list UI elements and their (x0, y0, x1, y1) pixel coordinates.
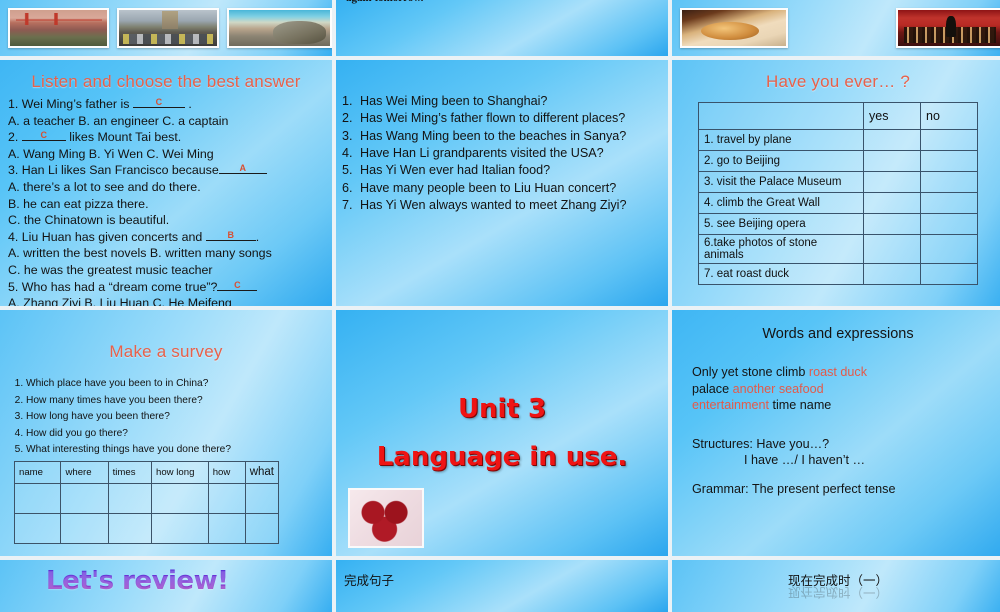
golden-gate-bridge-photo (8, 8, 109, 48)
slide-thumbnail-lets-review[interactable]: Let's review! (0, 560, 332, 612)
bottom-slide-body: 完成句子 (336, 560, 668, 612)
words-body: Only yet stone climb roast duck palace a… (672, 342, 1000, 498)
question-list: Has Wei Ming been to Shanghai? Has Wei M… (336, 60, 668, 214)
slide-grid: again tomorrow. Listen and choose the be… (0, 0, 1000, 600)
options-4c: C. he was the greatest music teacher (8, 262, 326, 279)
list-item: Have Han Li grandparents visited the USA… (356, 146, 658, 161)
list-item: Which place have you been to in China? (26, 376, 326, 392)
concert-orchestra-photo (896, 8, 1000, 48)
list-item: Has Wang Ming been to the beaches in San… (356, 129, 658, 144)
list-item: How did you go there? (26, 426, 326, 442)
structures-second-line: I have …/ I haven’t … (692, 452, 990, 469)
listen-choose-body: 1. Wei Ming’s father is C . A. a teacher… (0, 96, 332, 306)
list-item: Have many people been to Liu Huan concer… (356, 181, 658, 196)
have-you-ever-table: yes no 1. travel by plane 2. go to Beiji… (698, 102, 978, 285)
red-roses-photo (348, 488, 424, 548)
unit-subtitle: Language in use. (377, 442, 628, 472)
col-name: name (15, 461, 61, 483)
word-line-3: entertainment time name (692, 397, 990, 414)
options-3b: B. he can eat pizza there. (8, 196, 326, 213)
list-item: Has Yi Wen always wanted to meet Zhang Z… (356, 198, 658, 213)
cell-yes[interactable] (864, 151, 921, 172)
lets-review-title: Let's review! (46, 566, 228, 596)
table-row (15, 483, 279, 513)
slide-thumbnail-photos-top-left[interactable] (0, 0, 332, 56)
answer-blank-3: A (219, 173, 267, 174)
table-row: name where times how long how what (15, 461, 279, 483)
slide-thumbnail-words-and-expressions[interactable]: Words and expressions Only yet stone cli… (672, 310, 1000, 556)
cell[interactable] (61, 483, 108, 513)
cell[interactable] (108, 483, 151, 513)
slide-thumbnail-listen-and-choose[interactable]: Listen and choose the best answer 1. Wei… (0, 60, 332, 306)
table-row: 1. travel by plane (699, 130, 978, 151)
cell-no[interactable] (921, 130, 978, 151)
answer-blank-1: C (133, 107, 185, 108)
cell-yes[interactable] (864, 214, 921, 235)
cell[interactable] (208, 483, 245, 513)
question-1: 1. Wei Ming’s father is C . (8, 96, 326, 113)
answer-blank-5: C (217, 290, 257, 291)
cell-no[interactable] (921, 214, 978, 235)
slide-thumbnail-have-you-ever[interactable]: Have you ever… ? yes no 1. travel by pla… (672, 60, 1000, 306)
grammar-line: Grammar: The present perfect tense (692, 481, 990, 498)
list-item: How many times have you been there? (26, 393, 326, 409)
cut-text: again tomorrow. (346, 0, 423, 4)
cell[interactable] (108, 513, 151, 543)
table-row: 2. go to Beijing (699, 151, 978, 172)
bottom-slide-body: Let's review! (0, 560, 332, 612)
col-what: what (245, 461, 278, 483)
word-line-1: Only yet stone climb roast duck (692, 364, 990, 381)
beach-rocks-photo (227, 8, 332, 48)
col-how-long: how long (152, 461, 209, 483)
slide-thumbnail-photos-top-right[interactable] (672, 0, 1000, 56)
options-3c: C. the Chinatown is beautiful. (8, 212, 326, 229)
cell-no[interactable] (921, 151, 978, 172)
bottom-slide-body: 现在完成时（一） 现在完成时（一） (672, 560, 1000, 612)
list-item: Has Wei Ming been to Shanghai? (356, 94, 658, 109)
cell-no[interactable] (921, 235, 978, 264)
cell[interactable] (61, 513, 108, 543)
question-3: 3. Han Li likes San Francisco becauseA (8, 162, 326, 179)
slide-thumbnail-unit-title[interactable]: Unit 3 Language in use. (336, 310, 668, 556)
list-item: Has Wei Ming’s father flown to different… (356, 111, 658, 126)
list-item: What interesting things have you done th… (26, 442, 326, 458)
cell[interactable] (152, 483, 209, 513)
table-row: yes no (699, 103, 978, 130)
slide-thumbnail-top-center[interactable]: again tomorrow. (336, 0, 668, 56)
cell-yes[interactable] (864, 172, 921, 193)
cell[interactable] (152, 513, 209, 543)
col-activity (699, 103, 864, 130)
cell-yes[interactable] (864, 193, 921, 214)
cell-yes[interactable] (864, 264, 921, 285)
table-row: 6.take photos of stone animals (699, 235, 978, 264)
slide-title: Make a survey (0, 342, 332, 362)
slide-title: Words and expressions (672, 326, 1000, 342)
slide-title: Have you ever… ? (672, 72, 1000, 92)
table-row: 7. eat roast duck (699, 264, 978, 285)
options-2: A. Wang Ming B. Yi Wen C. Wei Ming (8, 146, 326, 163)
complete-sentences-title: 完成句子 (344, 570, 394, 589)
table-row: 3. visit the Palace Museum (699, 172, 978, 193)
slide-thumbnail-complete-sentences[interactable]: 完成句子 (336, 560, 668, 612)
table-row: 4. climb the Great Wall (699, 193, 978, 214)
cell[interactable] (245, 483, 278, 513)
options-4a: A. written the best novels B. written ma… (8, 245, 326, 262)
cell[interactable] (15, 483, 61, 513)
cell-no[interactable] (921, 193, 978, 214)
unit-number: Unit 3 (458, 394, 546, 424)
answer-blank-4: B (206, 240, 256, 241)
roast-dinner-photo (680, 8, 788, 48)
options-3a: A. there’s a lot to see and do there. (8, 179, 326, 196)
structures-line: Structures: Have you…? (692, 436, 990, 453)
options-1: A. a teacher B. an engineer C. a captain (8, 113, 326, 130)
slide-thumbnail-questions[interactable]: Has Wei Ming been to Shanghai? Has Wei M… (336, 60, 668, 306)
word-line-2: palace another seafood (692, 381, 990, 398)
survey-question-list: Which place have you been to in China? H… (0, 366, 332, 458)
col-how: how (208, 461, 245, 483)
list-item: Has Yi Wen ever had Italian food? (356, 163, 658, 178)
question-4: 4. Liu Huan has given concerts and B. (8, 229, 326, 246)
survey-table: name where times how long how what (14, 461, 279, 544)
cell[interactable] (208, 513, 245, 543)
col-no: no (921, 103, 978, 130)
slide-thumbnail-present-perfect[interactable]: 现在完成时（一） 现在完成时（一） (672, 560, 1000, 612)
table-row: 5. see Beijing opera (699, 214, 978, 235)
cell-no[interactable] (921, 264, 978, 285)
question-5: 5. Who has had a “dream come true”?C (8, 279, 326, 296)
cell-no[interactable] (921, 172, 978, 193)
cell[interactable] (15, 513, 61, 543)
photo-strip (672, 8, 1000, 48)
photo-strip (0, 8, 332, 48)
answer-blank-2: C (22, 140, 66, 141)
cell-yes[interactable] (864, 235, 921, 264)
question-2: 2. C likes Mount Tai best. (8, 129, 326, 146)
col-times: times (108, 461, 151, 483)
options-5: A. Zhang Ziyi B. Liu Huan C. He Meifeng (8, 295, 326, 306)
cell-yes[interactable] (864, 130, 921, 151)
present-perfect-title-reflection: 现在完成时（一） (672, 584, 1000, 603)
list-item: How long have you been there? (26, 409, 326, 425)
london-big-ben-street-photo (117, 8, 218, 48)
col-yes: yes (864, 103, 921, 130)
slide-thumbnail-make-a-survey[interactable]: Make a survey Which place have you been … (0, 310, 332, 556)
cell[interactable] (245, 513, 278, 543)
col-where: where (61, 461, 108, 483)
slide-title: Listen and choose the best answer (0, 72, 332, 92)
table-row (15, 513, 279, 543)
